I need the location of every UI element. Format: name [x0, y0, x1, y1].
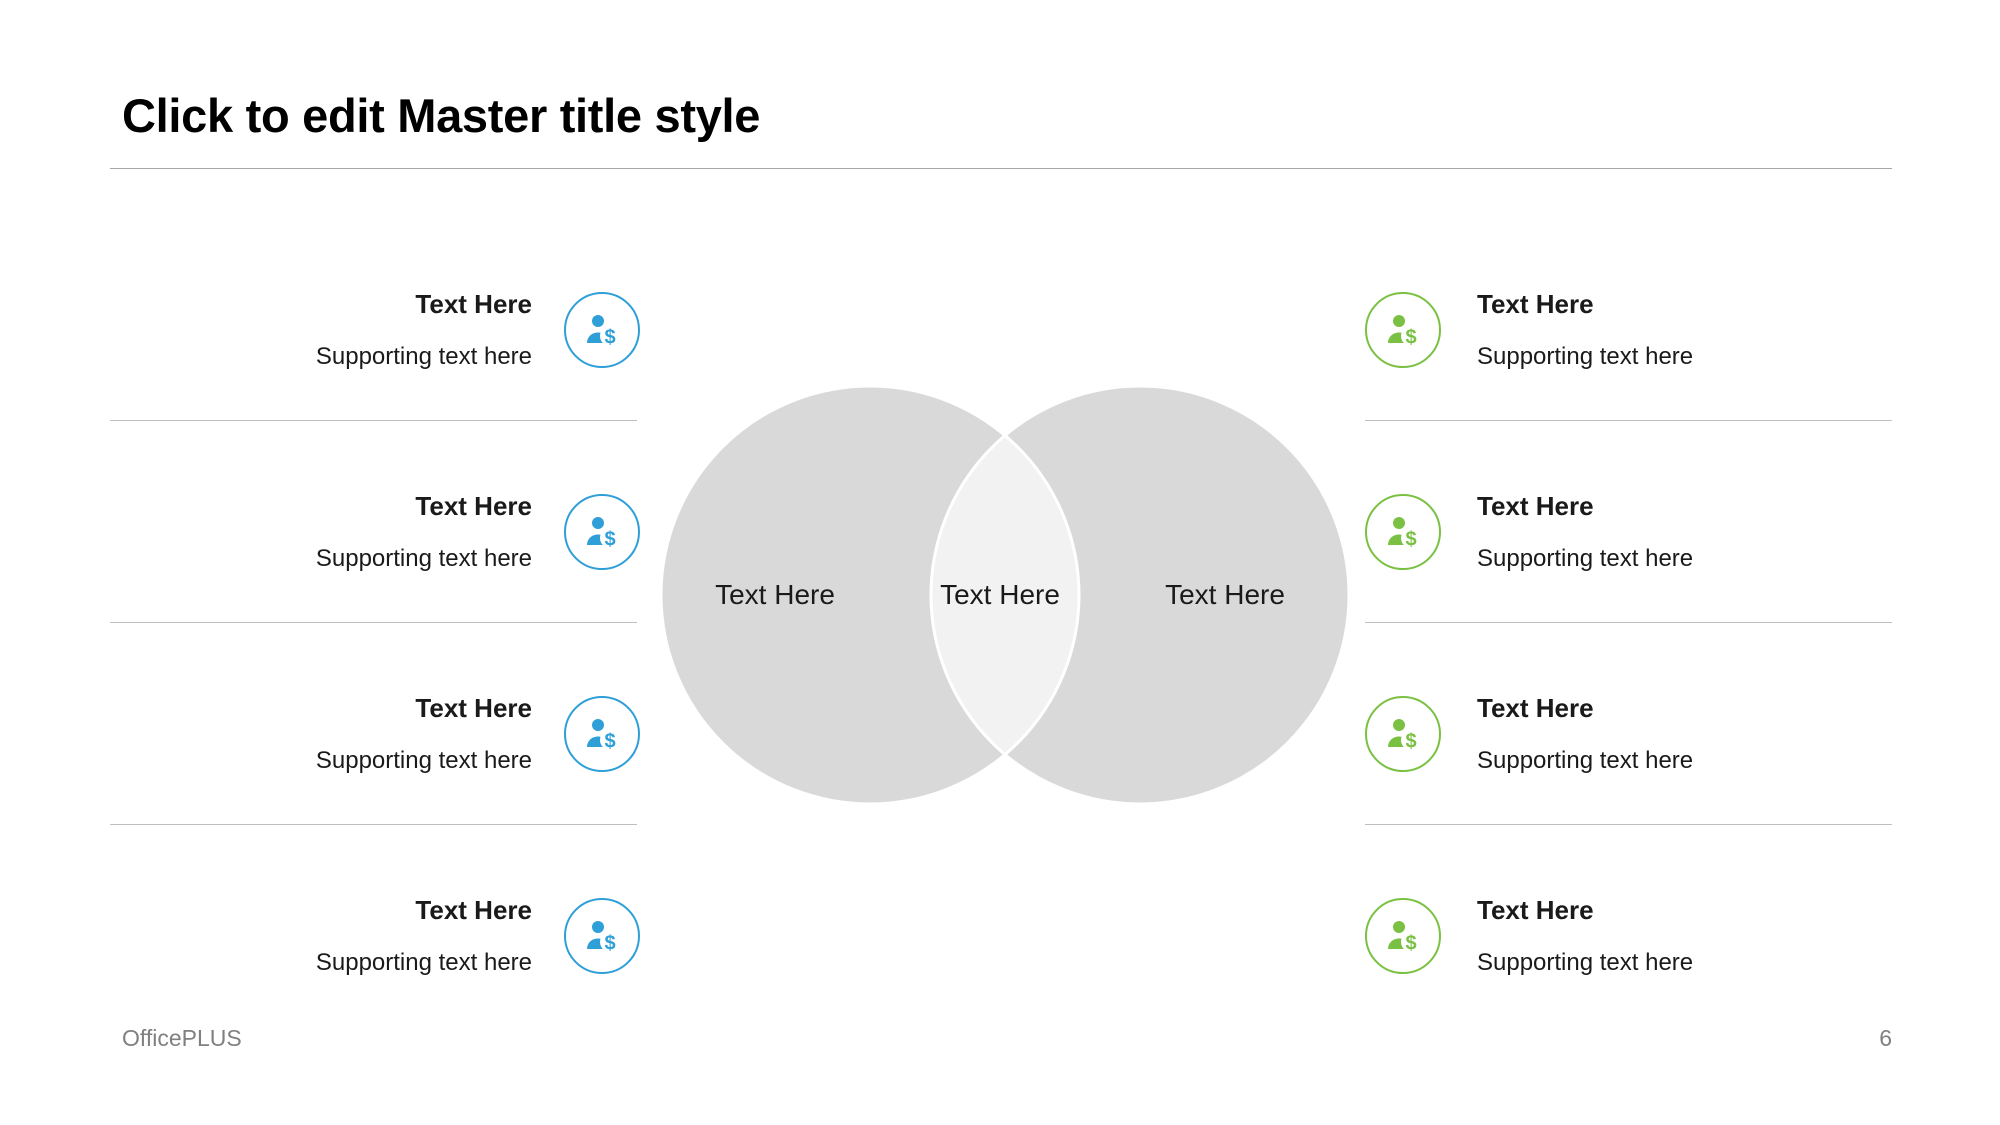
list-item-title: Text Here [1477, 896, 1594, 925]
venn-label-left: Text Here [715, 579, 835, 611]
svg-text:$: $ [1405, 529, 1416, 550]
title-divider [110, 168, 1892, 169]
list-item-title: Text Here [415, 290, 532, 319]
list-item[interactable]: $ Text Here Supporting text here [1365, 654, 1895, 856]
venn-label-right: Text Here [1165, 579, 1285, 611]
list-item-subtitle: Supporting text here [1477, 748, 1693, 774]
item-divider [110, 622, 637, 623]
svg-text:$: $ [604, 731, 615, 752]
item-divider [110, 824, 637, 825]
item-divider [110, 420, 637, 421]
item-divider [1365, 622, 1892, 623]
svg-text:$: $ [604, 529, 615, 550]
list-item[interactable]: Text Here Supporting text here $ [110, 452, 640, 654]
list-item-subtitle: Supporting text here [316, 344, 532, 370]
svg-text:$: $ [604, 933, 615, 954]
list-item-subtitle: Supporting text here [316, 748, 532, 774]
page-title[interactable]: Click to edit Master title style [122, 88, 760, 143]
person-dollar-icon[interactable]: $ [564, 696, 640, 772]
list-item-title: Text Here [1477, 492, 1594, 521]
list-item-title: Text Here [415, 492, 532, 521]
list-item[interactable]: $ Text Here Supporting text here [1365, 250, 1895, 452]
list-item[interactable]: $ Text Here Supporting text here [1365, 452, 1895, 654]
left-column: Text Here Supporting text here $ Text H [110, 250, 640, 1058]
list-item[interactable]: $ Text Here Supporting text here [1365, 856, 1895, 1058]
svg-text:$: $ [1405, 327, 1416, 348]
item-divider [1365, 824, 1892, 825]
list-item-title: Text Here [1477, 694, 1594, 723]
item-divider [1365, 420, 1892, 421]
person-dollar-icon[interactable]: $ [564, 292, 640, 368]
list-item-title: Text Here [1477, 290, 1594, 319]
list-item-subtitle: Supporting text here [1477, 344, 1693, 370]
svg-text:$: $ [1405, 933, 1416, 954]
right-column: $ Text Here Supporting text here $ [1365, 250, 1895, 1058]
page-number: 6 [1879, 1025, 1892, 1052]
slide-canvas: Click to edit Master title style Text He… [0, 0, 2000, 1125]
person-dollar-icon[interactable]: $ [564, 898, 640, 974]
list-item-title: Text Here [415, 896, 532, 925]
svg-text:$: $ [604, 327, 615, 348]
venn-label-center: Text Here [940, 579, 1060, 611]
list-item[interactable]: Text Here Supporting text here $ [110, 250, 640, 452]
person-dollar-icon[interactable]: $ [1365, 292, 1441, 368]
list-item-subtitle: Supporting text here [316, 950, 532, 976]
person-dollar-icon[interactable]: $ [564, 494, 640, 570]
svg-text:$: $ [1405, 731, 1416, 752]
list-item[interactable]: Text Here Supporting text here $ [110, 654, 640, 856]
list-item-subtitle: Supporting text here [1477, 950, 1693, 976]
person-dollar-icon[interactable]: $ [1365, 696, 1441, 772]
venn-diagram[interactable]: Text Here Text Here Text Here [660, 385, 1350, 805]
list-item-title: Text Here [415, 694, 532, 723]
person-dollar-icon[interactable]: $ [1365, 494, 1441, 570]
list-item-subtitle: Supporting text here [1477, 546, 1693, 572]
footer-brand: OfficePLUS [122, 1025, 242, 1052]
list-item-subtitle: Supporting text here [316, 546, 532, 572]
person-dollar-icon[interactable]: $ [1365, 898, 1441, 974]
